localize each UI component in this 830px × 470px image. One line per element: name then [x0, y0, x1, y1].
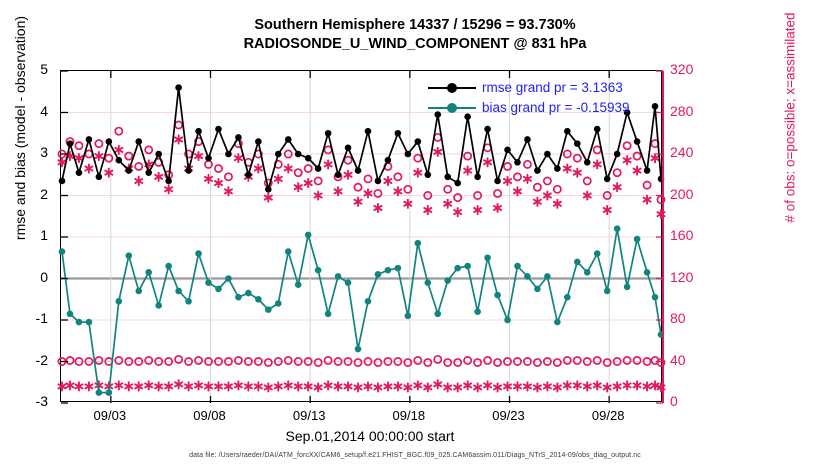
y-axis-right-tick-label: 80 [670, 310, 720, 326]
legend-marker-rmse-icon [428, 82, 476, 94]
chart-page: Southern Hemisphere 14337 / 15296 = 93.7… [0, 0, 830, 470]
x-axis-tick-label: 09/03 [70, 408, 150, 423]
chart-canvas [61, 71, 663, 403]
y-axis-left-label: rmse and bias (model - observation) [12, 0, 28, 308]
y-axis-right-tick-label: 120 [670, 269, 720, 285]
y-axis-right-tick-label: 320 [670, 61, 720, 77]
x-axis-label: Sep.01,2014 00:00:00 start [0, 428, 740, 444]
y-axis-right-tick-label: 280 [670, 103, 720, 119]
legend-label-bias: bias grand pr = -0.15939 [482, 98, 629, 118]
chart-legend: rmse grand pr = 3.1363 bias grand pr = -… [428, 78, 629, 118]
y-axis-right-tick-label: 0 [670, 393, 720, 409]
y-axis-left-tick-label: -3 [2, 393, 48, 409]
x-axis-tick-label: 09/18 [369, 408, 449, 423]
y-axis-left-tick-label: -1 [2, 310, 48, 326]
y-axis-left-tick-label: -2 [2, 352, 48, 368]
y-axis-right-tick-label: 40 [670, 352, 720, 368]
y-axis-right-tick-label: 240 [670, 144, 720, 160]
legend-marker-bias-icon [428, 102, 476, 114]
title-line-2: RADIOSONDE_U_WIND_COMPONENT @ 831 hPa [0, 35, 830, 54]
x-axis-tick-label: 09/08 [170, 408, 250, 423]
plot-area [60, 70, 662, 402]
x-axis-tick-label: 09/13 [269, 408, 349, 423]
y-axis-right-tick-label: 200 [670, 186, 720, 202]
page-title: Southern Hemisphere 14337 / 15296 = 93.7… [0, 16, 830, 54]
y-axis-right-label: # of obs: o=possible; x=assimilated [783, 0, 798, 298]
x-axis-tick-label: 09/28 [568, 408, 648, 423]
legend-item-rmse: rmse grand pr = 3.1363 [428, 78, 629, 98]
legend-label-rmse: rmse grand pr = 3.1363 [482, 78, 623, 98]
title-line-1: Southern Hemisphere 14337 / 15296 = 93.7… [0, 16, 830, 35]
data-file-footer: data file: /Users/raeder/DAI/ATM_forcXX/… [0, 452, 830, 459]
y-axis-right-tick-label: 160 [670, 227, 720, 243]
x-axis-tick-label: 09/23 [469, 408, 549, 423]
legend-item-bias: bias grand pr = -0.15939 [428, 98, 629, 118]
